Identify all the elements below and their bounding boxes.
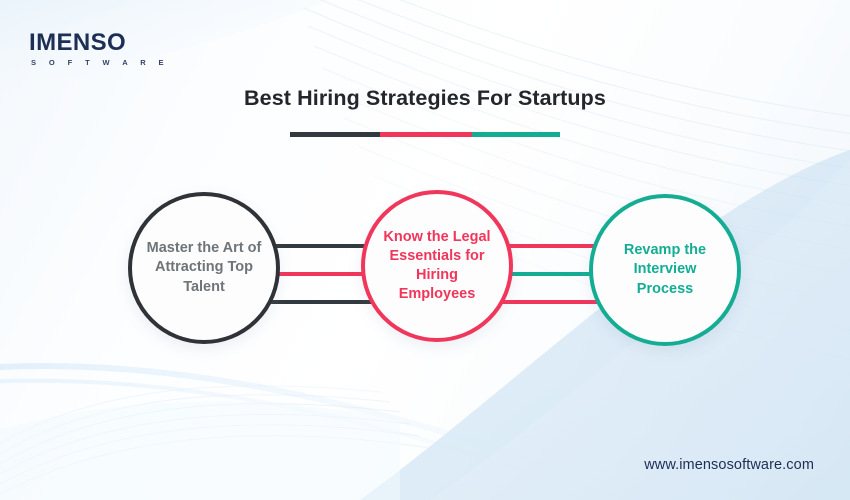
footer-website-url[interactable]: www.imensosoftware.com bbox=[644, 457, 814, 473]
swoop-curves-bottom-left bbox=[0, 366, 572, 486]
title-divider bbox=[290, 132, 560, 137]
node-label: Revamp the Interview Process bbox=[593, 241, 737, 298]
divider-segment-dark bbox=[290, 132, 380, 137]
divider-segment-pink bbox=[380, 132, 472, 137]
logo-wordmark: IMENSO bbox=[29, 31, 169, 55]
infographic-canvas: IMENSO S O F T W A R E Best Hiring Strat… bbox=[0, 0, 850, 500]
brand-logo: IMENSO S O F T W A R E bbox=[29, 31, 169, 67]
strategy-diagram: Master the Art of Attracting Top Talent … bbox=[0, 175, 850, 375]
node-label: Know the Legal Essentials for Hiring Emp… bbox=[365, 228, 509, 305]
logo-tagline: S O F T W A R E bbox=[31, 59, 169, 67]
node-label: Master the Art of Attracting Top Talent bbox=[132, 239, 276, 296]
diagram-node-master-talent[interactable]: Master the Art of Attracting Top Talent bbox=[128, 192, 280, 344]
diagram-node-revamp-interview[interactable]: Revamp the Interview Process bbox=[589, 194, 741, 346]
divider-segment-teal bbox=[472, 132, 560, 137]
page-title: Best Hiring Strategies For Startups bbox=[0, 86, 850, 111]
diagram-node-legal-essentials[interactable]: Know the Legal Essentials for Hiring Emp… bbox=[361, 190, 513, 342]
fan-lines-bottom-left bbox=[0, 386, 430, 500]
